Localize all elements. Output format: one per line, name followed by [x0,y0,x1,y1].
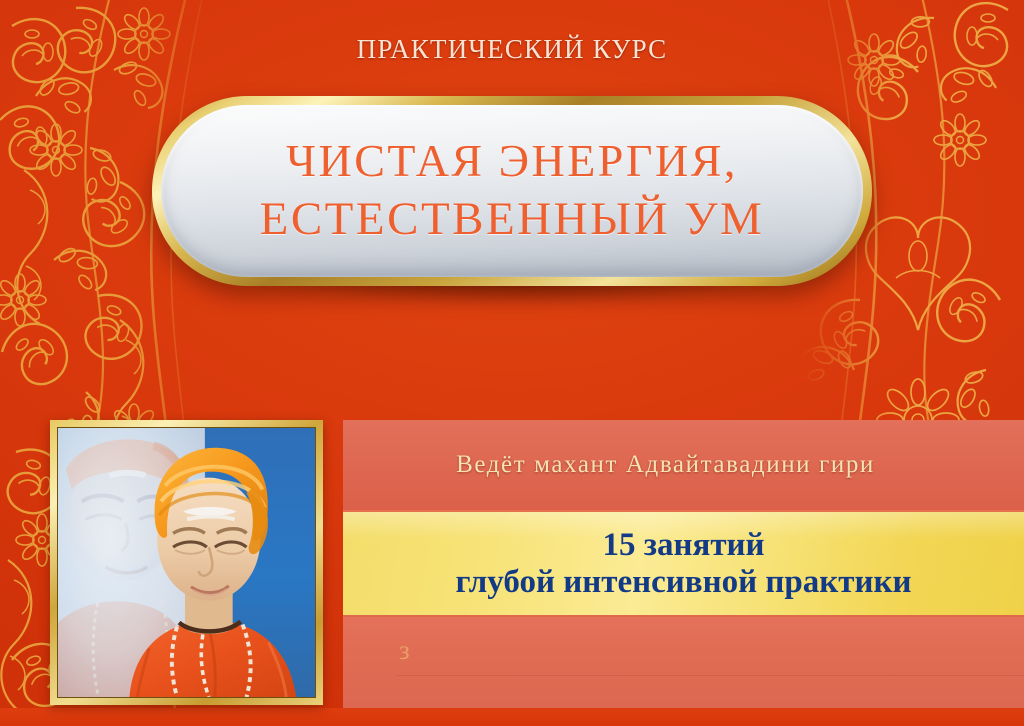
title-plaque-face: ЧИСТАЯ ЭНЕРГИЯ, ЕСТЕСТВЕННЫЙ УМ [161,105,863,277]
title-line-1: ЧИСТАЯ ЭНЕРГИЯ, [286,132,738,190]
title-plaque: ЧИСТАЯ ЭНЕРГИЯ, ЕСТЕСТВЕННЫЙ УМ [152,96,872,286]
presenter-band: Ведёт махант Адвайтавадини гири [343,420,1024,510]
portrait-frame [50,420,323,705]
course-details-band: 15 занятий глубой интенсивной практики [343,510,1024,617]
promo-slide: ПРАКТИЧЕСКИЙ КУРС ЧИСТАЯ ЭНЕРГИЯ, ЕСТЕСТ… [0,0,1024,726]
footer-band: з [343,617,1024,708]
kicker-text: ПРАКТИЧЕСКИЙ КУРС [0,34,1024,65]
info-block: Ведёт махант Адвайтавадини гири 15 занят… [343,420,1024,708]
session-count-text: 15 занятий [602,527,764,564]
footer-divider [397,675,1024,676]
title-line-2: ЕСТЕСТВЕННЫЙ УМ [260,190,765,249]
footer-partial-glyph: з [399,637,410,664]
session-description-text: глубой интенсивной практики [455,564,911,601]
presenter-text: Ведёт махант Адвайтавадини гири [456,451,875,479]
portrait-photo [57,427,316,698]
bottom-accent-strip [0,708,1024,726]
